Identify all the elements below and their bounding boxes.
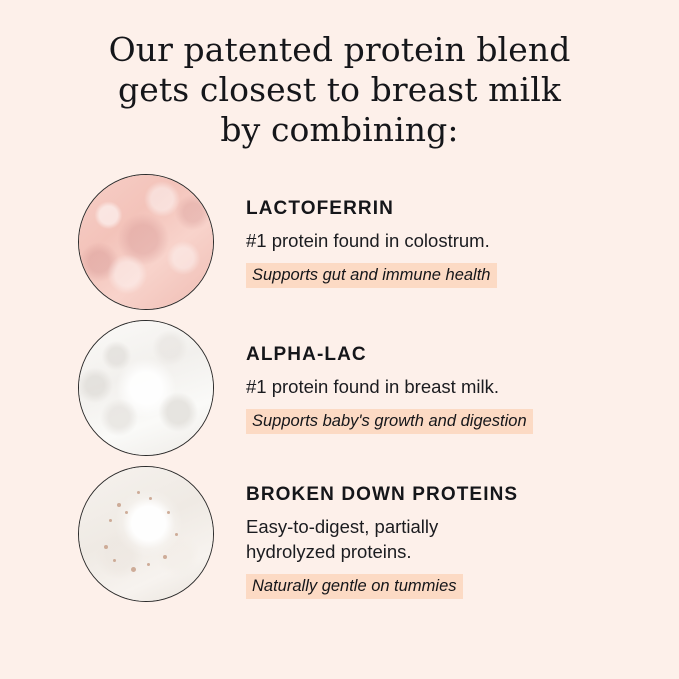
ingredient-list: LACTOFERRIN #1 protein found in colostru…	[0, 174, 679, 602]
page-title-line-1: Our patented protein blend	[0, 30, 679, 70]
ingredient-description-line-2: hydrolyzed proteins.	[246, 541, 412, 562]
ingredient-description: #1 protein found in colostrum.	[246, 228, 679, 253]
ingredient-text-block: LACTOFERRIN #1 protein found in colostru…	[218, 174, 679, 288]
speck-icon	[167, 511, 170, 514]
speck-icon	[104, 545, 108, 549]
speck-icon	[117, 503, 121, 507]
ingredient-text-block: ALPHA-LAC #1 protein found in breast mil…	[218, 320, 679, 434]
swatch-wrapper	[78, 174, 218, 310]
ingredient-benefit-tag: Supports gut and immune health	[246, 263, 497, 288]
speck-icon	[131, 567, 136, 572]
speck-icon	[147, 563, 150, 566]
list-item: ALPHA-LAC #1 protein found in breast mil…	[0, 320, 679, 456]
ingredient-benefit-tag: Supports baby's growth and digestion	[246, 409, 533, 434]
speck-icon	[175, 533, 178, 536]
lactoferrin-powder-swatch	[78, 174, 214, 310]
speck-icon	[149, 497, 152, 500]
page-title: Our patented protein blend gets closest …	[0, 0, 679, 150]
powder-texture-icon	[79, 467, 213, 601]
alpha-lac-powder-swatch	[78, 320, 214, 456]
speck-icon	[137, 491, 140, 494]
ingredient-text-block: BROKEN DOWN PROTEINS Easy-to-digest, par…	[218, 466, 679, 599]
infographic-page: Our patented protein blend gets closest …	[0, 0, 679, 679]
speck-icon	[109, 519, 112, 522]
ingredient-description: #1 protein found in breast milk.	[246, 374, 679, 399]
powder-texture-icon	[79, 175, 213, 309]
powder-texture-icon	[79, 321, 213, 455]
ingredient-description: Easy-to-digest, partially hydrolyzed pro…	[246, 514, 679, 564]
speck-icon	[113, 559, 116, 562]
swatch-wrapper	[78, 320, 218, 456]
ingredient-title: BROKEN DOWN PROTEINS	[246, 484, 679, 506]
broken-down-proteins-swatch	[78, 466, 214, 602]
speck-icon	[125, 511, 128, 514]
ingredient-title: LACTOFERRIN	[246, 198, 679, 220]
swatch-wrapper	[78, 466, 218, 602]
page-title-line-2: gets closest to breast milk	[0, 70, 679, 110]
page-title-line-3: by combining:	[0, 110, 679, 150]
list-item: LACTOFERRIN #1 protein found in colostru…	[0, 174, 679, 310]
ingredient-benefit-tag: Naturally gentle on tummies	[246, 574, 463, 599]
ingredient-title: ALPHA-LAC	[246, 344, 679, 366]
list-item: BROKEN DOWN PROTEINS Easy-to-digest, par…	[0, 466, 679, 602]
ingredient-description-line-1: Easy-to-digest, partially	[246, 516, 438, 537]
speck-icon	[163, 555, 167, 559]
